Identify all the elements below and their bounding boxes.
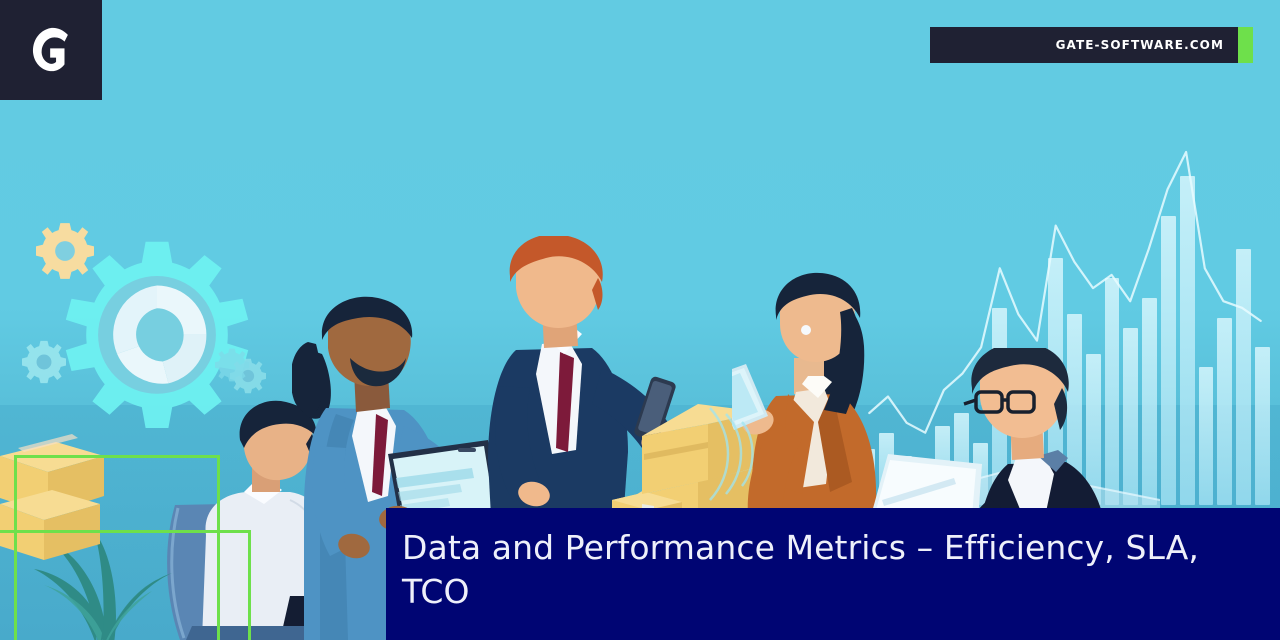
gear-small-cyan-icon-c bbox=[215, 348, 249, 387]
green-accent-rect-b bbox=[0, 530, 251, 640]
url-banner-green-accent bbox=[1238, 27, 1253, 63]
logo-g-icon bbox=[24, 23, 78, 77]
site-url-text: GATE-SOFTWARE.COM bbox=[1056, 38, 1238, 52]
title-bar: Data and Performance Metrics – Efficienc… bbox=[386, 508, 1280, 640]
signal-waves-icon bbox=[700, 398, 790, 508]
gear-small-cyan-icon-a bbox=[22, 340, 66, 389]
page-title: Data and Performance Metrics – Efficienc… bbox=[402, 526, 1240, 614]
hero-banner: GATE-SOFTWARE.COM Data and Performance M… bbox=[0, 0, 1280, 640]
gear-small-gold-icon bbox=[36, 222, 94, 285]
brand-logo[interactable] bbox=[0, 0, 102, 100]
site-url-banner: GATE-SOFTWARE.COM bbox=[930, 27, 1238, 63]
